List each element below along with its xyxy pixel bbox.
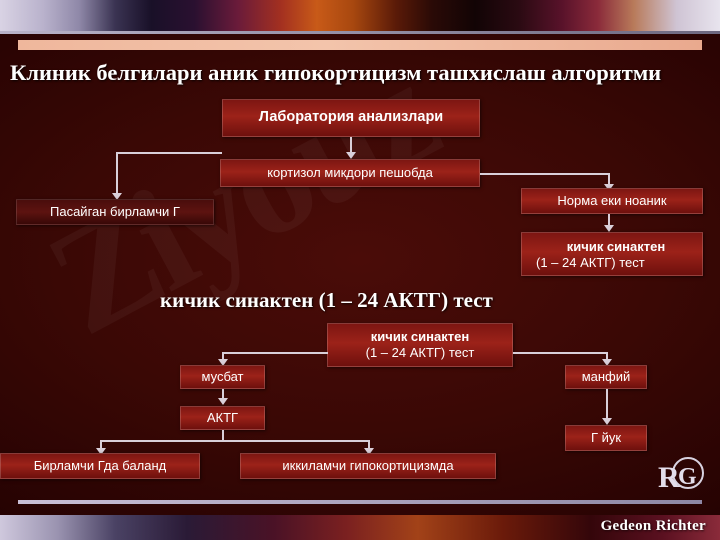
logo-letter-r: R — [658, 461, 680, 495]
synacthen-top-line1: кичик синактен — [567, 239, 665, 255]
connector-cortisol-left-vertical — [116, 153, 118, 197]
box-secondary-hypocorticism[interactable]: иккиламчи гипокортицизмда — [240, 453, 496, 479]
logo-letter-g: G — [678, 464, 697, 491]
arrow-positive-to-actg — [218, 398, 228, 405]
page-title: Клиник белгилари аник гипокортицизм ташх… — [10, 60, 661, 86]
connector-actg-split-horizontal — [100, 440, 370, 442]
decorative-peach-bar — [18, 40, 702, 50]
connector-negative-to-no-g — [606, 389, 608, 421]
connector-synacthen-to-positive-h — [222, 352, 328, 354]
box-positive[interactable]: мусбат — [180, 365, 265, 389]
gedeon-richter-logo: R G — [658, 455, 702, 495]
arrow-lab-to-cortisol — [346, 152, 356, 159]
decorative-bottom-line — [18, 500, 702, 504]
box-small-synacthen-test-top[interactable]: кичик синактен (1 – 24 АКТГ) тест — [521, 232, 703, 276]
decorative-top-band — [0, 0, 720, 34]
box-low-primary-g[interactable]: Пасайган бирламчи Г — [16, 199, 214, 225]
box-negative[interactable]: манфий — [565, 365, 647, 389]
connector-actg-down — [222, 430, 224, 440]
synacthen-top-line2: (1 – 24 АКТГ) тест — [536, 255, 645, 271]
connector-cortisol-left-horizontal — [116, 152, 222, 154]
arrow-normal-to-synacthen — [604, 225, 614, 232]
arrow-negative-to-no-g — [602, 418, 612, 425]
box-normal-or-unclear[interactable]: Норма еки ноаник — [521, 188, 703, 214]
box-actg[interactable]: АКТГ — [180, 406, 265, 430]
box-urine-cortisol[interactable]: кортизол микдори пешобда — [220, 159, 480, 187]
box-laboratory-analyses[interactable]: Лаборатория анализлари — [222, 99, 480, 137]
box-small-synacthen-test-bottom[interactable]: кичик синактен (1 – 24 АКТГ) тест — [327, 323, 513, 367]
connector-cortisol-right-horizontal — [480, 173, 610, 175]
connector-synacthen-to-negative-h — [513, 352, 608, 354]
section-title: кичик синактен (1 – 24 АКТГ) тест — [160, 288, 493, 313]
slide-canvas: Ziyouz Клиник белгилари аник гипокортици… — [0, 0, 720, 540]
box-no-g[interactable]: Г йук — [565, 425, 647, 451]
footer-brand-text: Gedeon Richter — [601, 518, 706, 535]
box-primary-high-g[interactable]: Бирламчи Гда баланд — [0, 453, 200, 479]
synacthen-bottom-line1: кичик синактен — [371, 329, 469, 345]
synacthen-bottom-line2: (1 – 24 АКТГ) тест — [366, 345, 475, 361]
